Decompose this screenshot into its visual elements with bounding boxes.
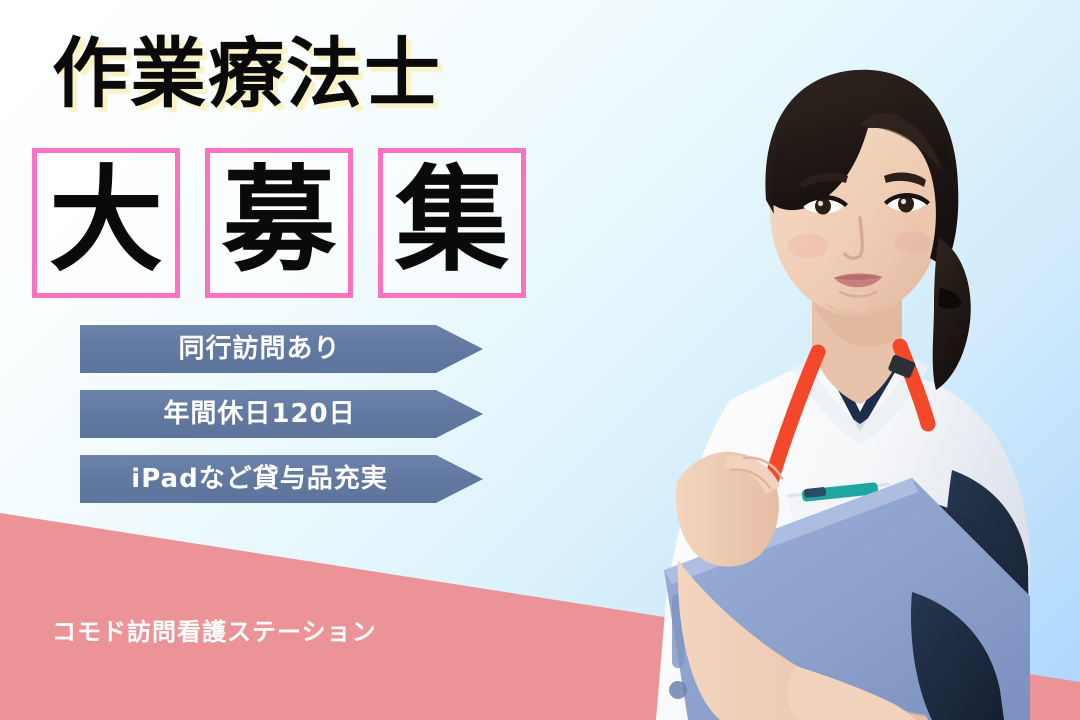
boxed-char-2: 募 (205, 148, 353, 298)
benefit-ribbon-3: iPadなど貸与品充実 (80, 455, 483, 503)
benefit-ribbon-3-label: iPadなど貸与品充実 (131, 466, 387, 492)
benefit-ribbon-list: 同行訪問あり 年間休日120日 iPadなど貸与品充実 (80, 325, 483, 520)
benefit-ribbon-1-label: 同行訪問あり (178, 336, 340, 362)
boxed-char-3-label: 集 (395, 164, 509, 278)
page-title: 作業療法士 (52, 36, 442, 112)
benefit-ribbon-2-label: 年間休日120日 (163, 401, 355, 427)
boxed-char-1-label: 大 (49, 164, 163, 278)
benefit-ribbon-2: 年間休日120日 (80, 390, 483, 438)
healthcare-worker-photo (560, 0, 1080, 720)
benefit-ribbon-1: 同行訪問あり (80, 325, 483, 373)
boxed-char-1: 大 (32, 148, 180, 298)
brand-name: コモド訪問看護ステーション (52, 612, 377, 647)
recruitment-banner: 作業療法士 大 募 集 同行訪問あり 年間休日120日 iPadなど貸与品充実 … (0, 0, 1080, 720)
boxed-char-2-label: 募 (222, 164, 336, 278)
boxed-headline: 大 募 集 (32, 148, 526, 298)
boxed-char-3: 集 (378, 148, 526, 298)
